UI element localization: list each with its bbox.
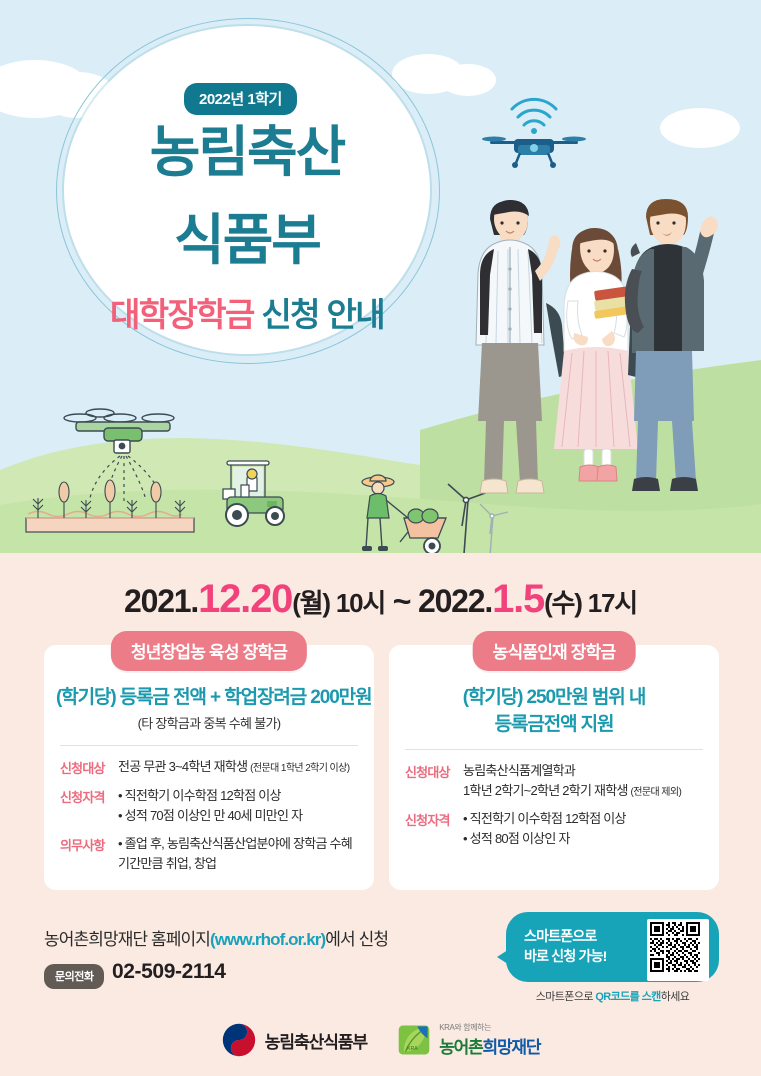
row-body: • 졸업 후, 농림축산식품산업분야에 장학금 수혜 기간만큼 취업, 창업 (118, 834, 364, 873)
qr-code-icon (650, 922, 700, 972)
row-body: 전공 무관 3~4학년 재학생 (전문대 1학년 2학기 이상) (118, 757, 364, 777)
row-label: 신청자격 (60, 786, 118, 806)
row-text: 전공 무관 3~4학년 재학생 (118, 759, 247, 774)
apply-instruction: 농어촌희망재단 홈페이지(www.rhof.or.kr)에서 신청 (44, 925, 388, 950)
card-rows-agrifood-talent: 신청대상 농림축산식품계열학과 1학년 2학기~2학년 2학기 재학생 (전문대… (405, 761, 709, 857)
tractor-illustration (205, 455, 315, 535)
row-body: • 직전학기 이수학점 12학점 이상 • 성적 80점 이상인 자 (463, 809, 709, 848)
qr-code[interactable] (647, 919, 709, 981)
qr-caption-bold: QR코드를 스캔 (595, 991, 660, 1003)
logo-ministry: 농림축산식품부 (221, 1022, 367, 1058)
row-text: 농림축산식품계열학과 1학년 2학기~2학년 2학기 재학생 (463, 763, 628, 798)
card-divider (405, 749, 703, 750)
card-amount-youth-farmer: (학기당) 등록금 전액 + 학업장려금 200만원 (56, 685, 362, 711)
row-label: 의무사항 (60, 834, 118, 854)
poster-root: 2022년 1학기 농림축산 식품부 대학장학금 신청 안내 2021.12.2… (0, 0, 761, 1076)
row-label: 신청자격 (405, 809, 463, 829)
term-badge: 2022년 1학기 (184, 83, 297, 115)
qr-callout-bubble: 스마트폰으로 바로 신청 가능! (506, 912, 719, 982)
sky-background: 2022년 1학기 농림축산 식품부 대학장학금 신청 안내 (0, 0, 761, 553)
scholarship-card-youth-farmer: 청년창업농 육성 장학금 (학기당) 등록금 전액 + 학업장려금 200만원 … (44, 645, 374, 890)
period-day-start: (월) 10시 (292, 588, 385, 618)
apply-pre: 농어촌희망재단 홈페이지 (44, 930, 210, 949)
table-row: 의무사항 • 졸업 후, 농림축산식품산업분야에 장학금 수혜 기간만큼 취업,… (60, 834, 364, 873)
qr-caption-pre: 스마트폰으로 (536, 991, 596, 1003)
period-tilde: ~ (385, 583, 418, 619)
apply-post: 에서 신청 (325, 930, 388, 949)
card-divider (60, 745, 358, 746)
card-title-agrifood-talent: 농식품인재 장학금 (473, 631, 636, 671)
svg-text:KRA: KRA (407, 1046, 418, 1052)
wheat-field-illustration (22, 468, 202, 548)
application-period: 2021.12.20(월) 10시 ~ 2022.1.5(수) 17시 (0, 577, 761, 622)
table-row: 신청자격 • 직전학기 이수학점 12학점 이상 • 성적 70점 이상인 만 … (60, 786, 364, 825)
poster-title-line2: 식품부 (0, 212, 494, 268)
period-year-end: 2022. (418, 583, 492, 619)
logo-foundation-name: 농어촌희망재단 (439, 1033, 540, 1058)
leaf-icon: KRA (397, 1023, 431, 1057)
card-amount-agrifood-talent: (학기당) 250만원 범위 내 등록금전액 지원 (401, 685, 707, 738)
tel-number[interactable]: 02-509-2114 (112, 960, 226, 984)
qr-caption-post: 하세요 (661, 991, 690, 1003)
tel-label-badge: 문의전화 (44, 964, 104, 989)
period-day-end: (수) 17시 (544, 588, 637, 618)
row-body: • 직전학기 이수학점 12학점 이상 • 성적 70점 이상인 만 40세 미… (118, 786, 364, 825)
qr-callout-line2: 바로 신청 가능! (524, 946, 607, 966)
apply-url[interactable]: (www.rhof.or.kr) (210, 930, 325, 949)
poster-subtitle: 대학장학금 신청 안내 (0, 288, 494, 336)
drone-icon (480, 95, 600, 175)
logo-foundation-name-green: 농어촌 (439, 1038, 482, 1057)
qr-callout-text: 스마트폰으로 바로 신청 가능! (524, 926, 607, 967)
logo-bar: 농림축산식품부 KRA KRA와 함께하는 농어촌희망재단 (0, 1022, 761, 1058)
row-label: 신청대상 (60, 757, 118, 777)
table-row: 신청자격 • 직전학기 이수학점 12학점 이상 • 성적 80점 이상인 자 (405, 809, 709, 848)
card-rows-youth-farmer: 신청대상 전공 무관 3~4학년 재학생 (전문대 1학년 2학기 이상) 신청… (60, 757, 364, 882)
period-date-start: 12.20 (198, 577, 292, 621)
logo-foundation-name-blue: 희망재단 (483, 1038, 541, 1057)
poster-title-line1: 농림축산 (0, 124, 494, 180)
card-subnote-youth-farmer: (타 장학금과 중복 수혜 불가) (56, 713, 362, 732)
qr-caption: 스마트폰으로 QR코드를 스캔하세요 (506, 988, 719, 1004)
row-note: (전문대 1학년 2학기 이상) (250, 763, 349, 774)
period-date-end: 1.5 (492, 577, 544, 621)
row-label: 신청대상 (405, 761, 463, 781)
table-row: 신청대상 전공 무관 3~4학년 재학생 (전문대 1학년 2학기 이상) (60, 757, 364, 777)
period-year-start: 2021. (124, 583, 198, 619)
card-title-youth-farmer: 청년창업농 육성 장학금 (111, 631, 307, 671)
qr-callout-line1: 스마트폰으로 (524, 926, 607, 946)
subtitle-highlight: 대학장학금 (110, 296, 254, 333)
logo-foundation: KRA KRA와 함께하는 농어촌희망재단 (397, 1022, 540, 1058)
subtitle-rest: 신청 안내 (261, 296, 384, 333)
table-row: 신청대상 농림축산식품계열학과 1학년 2학기~2학년 2학기 재학생 (전문대… (405, 761, 709, 800)
row-body: 농림축산식품계열학과 1학년 2학기~2학년 2학기 재학생 (전문대 제외) (463, 761, 709, 800)
logo-ministry-label: 농림축산식품부 (265, 1028, 367, 1053)
taegeuk-icon (221, 1022, 257, 1058)
scholarship-card-agrifood-talent: 농식품인재 장학금 (학기당) 250만원 범위 내 등록금전액 지원 신청대상… (389, 645, 719, 890)
row-note: (전문대 제외) (631, 787, 682, 798)
logo-foundation-tagline: KRA와 함께하는 (439, 1022, 540, 1033)
logo-foundation-text: KRA와 함께하는 농어촌희망재단 (439, 1022, 540, 1058)
